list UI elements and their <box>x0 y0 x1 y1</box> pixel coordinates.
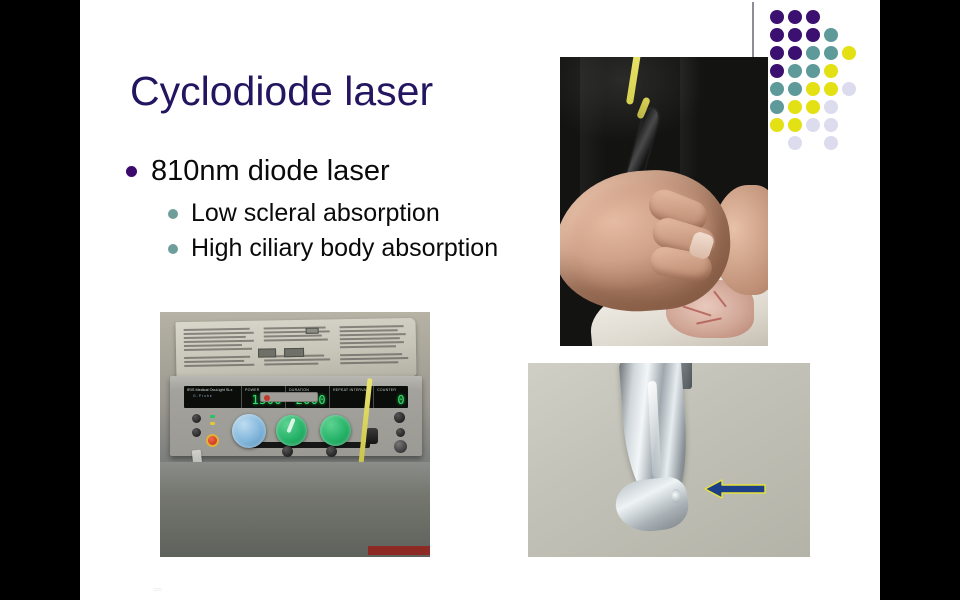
decorative-dot <box>824 136 838 150</box>
counter-readout: COUNTER 0 <box>374 386 408 408</box>
bullet-text: 810nm diode laser <box>151 152 390 191</box>
decorative-dot <box>770 100 784 114</box>
power-label: POWER <box>245 388 260 392</box>
vessel-marking <box>713 291 727 308</box>
decorative-dot <box>788 64 802 78</box>
pointer-icon[interactable] <box>179 583 194 596</box>
aux-knob[interactable] <box>396 428 405 437</box>
manual-figure <box>284 348 304 357</box>
slide-viewer: Cyclodiode laser 810nm diode laser Low s… <box>0 0 960 600</box>
decorative-dot <box>806 10 820 24</box>
slide-canvas: Cyclodiode laser 810nm diode laser Low s… <box>80 0 880 600</box>
red-object <box>368 546 430 555</box>
decorative-dot <box>842 46 856 60</box>
decorative-dot <box>788 82 802 96</box>
mode-knob[interactable] <box>192 428 201 437</box>
brand-plate: IRIS Medical OcuLight SLx G-Probe <box>184 386 242 408</box>
decorative-dot <box>770 82 784 96</box>
decorative-dot <box>824 64 838 78</box>
surgeon-applying-g-probe-photo <box>560 57 768 346</box>
power-knob-blue[interactable] <box>232 414 266 448</box>
list-item: High ciliary body absorption <box>168 232 606 265</box>
decorative-dot <box>770 46 784 60</box>
decorative-dot <box>824 28 838 42</box>
decorative-dot <box>842 82 856 96</box>
decorative-dot <box>824 100 838 114</box>
operating-manual <box>176 318 417 380</box>
treat-indicator-led <box>210 415 215 418</box>
emergency-stop-button[interactable] <box>206 434 219 447</box>
decorative-dot <box>806 82 820 96</box>
decorative-dot <box>788 100 802 114</box>
pen-icon[interactable] <box>121 583 136 596</box>
manual-figure <box>306 328 319 334</box>
bullet-text: High ciliary body absorption <box>191 232 498 265</box>
manual-figure <box>258 348 276 357</box>
decorative-dot <box>806 64 820 78</box>
filled-circle-bullet-icon <box>168 244 178 254</box>
page-title: Cyclodiode laser <box>130 68 433 115</box>
fibre-emission-point <box>671 489 681 503</box>
dot-grid-motif <box>752 0 864 155</box>
vessel-marking <box>682 305 711 316</box>
decorative-dot <box>806 46 820 60</box>
gown-fold <box>680 57 700 177</box>
decorative-dot <box>788 46 802 60</box>
filled-circle-bullet-icon <box>168 209 178 219</box>
sub-brand-label: G-Probe <box>193 394 213 398</box>
previous-slide-icon[interactable] <box>92 583 107 596</box>
counter-value: 0 <box>397 393 405 407</box>
connector-port <box>394 440 407 453</box>
decorative-dot <box>770 10 784 24</box>
decorative-dot <box>788 10 802 24</box>
presentation-toolbar[interactable] <box>86 583 206 596</box>
brand-label: IRIS Medical OcuLight SLx <box>187 388 232 392</box>
decorative-dot <box>824 46 838 60</box>
vessel-marking <box>696 317 722 324</box>
bullet-list: 810nm diode laser Low scleral absorption… <box>126 152 606 267</box>
console-vent-slot <box>245 442 370 448</box>
filled-circle-bullet-icon <box>126 166 137 177</box>
decorative-dot <box>824 82 838 96</box>
standby-indicator-led <box>210 422 215 425</box>
duration-knob-green[interactable] <box>276 415 307 446</box>
g-probe-tip-closeup-photo <box>528 363 810 557</box>
decorative-dot <box>770 64 784 78</box>
decorative-dot <box>770 118 784 132</box>
counter-label: COUNTER <box>377 388 396 392</box>
decorative-dot <box>770 28 784 42</box>
fiber-connector-plug <box>366 428 378 444</box>
duration-select-knob[interactable] <box>282 446 293 457</box>
laser-console-body: IRIS Medical OcuLight SLx G-Probe POWER … <box>170 376 422 456</box>
list-item: 810nm diode laser <box>126 152 606 191</box>
decorative-dot <box>806 118 820 132</box>
repeat-knob-green[interactable] <box>320 415 351 446</box>
decorative-dot <box>788 28 802 42</box>
repeat-select-knob[interactable] <box>326 446 337 457</box>
decorative-dot <box>788 136 802 150</box>
blue-arrow-annotation <box>704 479 766 499</box>
decorative-dot <box>806 28 820 42</box>
decorative-dot <box>824 118 838 132</box>
selector-knob[interactable] <box>192 414 201 423</box>
iris-medical-oculight-slx-console-photo: IRIS Medical OcuLight SLx G-Probe POWER … <box>160 312 430 557</box>
menu-icon[interactable] <box>150 583 165 596</box>
bullet-text: Low scleral absorption <box>191 197 440 230</box>
footswitch-badge <box>260 392 318 402</box>
decorative-dot <box>806 100 820 114</box>
decorative-dot <box>788 118 802 132</box>
list-item: Low scleral absorption <box>168 197 606 230</box>
duration-label: DURATION <box>289 388 309 392</box>
aux-knob[interactable] <box>394 412 405 423</box>
repeat-interval-label: REPEAT INTERVAL <box>333 388 368 392</box>
trolley-surface <box>160 462 430 557</box>
